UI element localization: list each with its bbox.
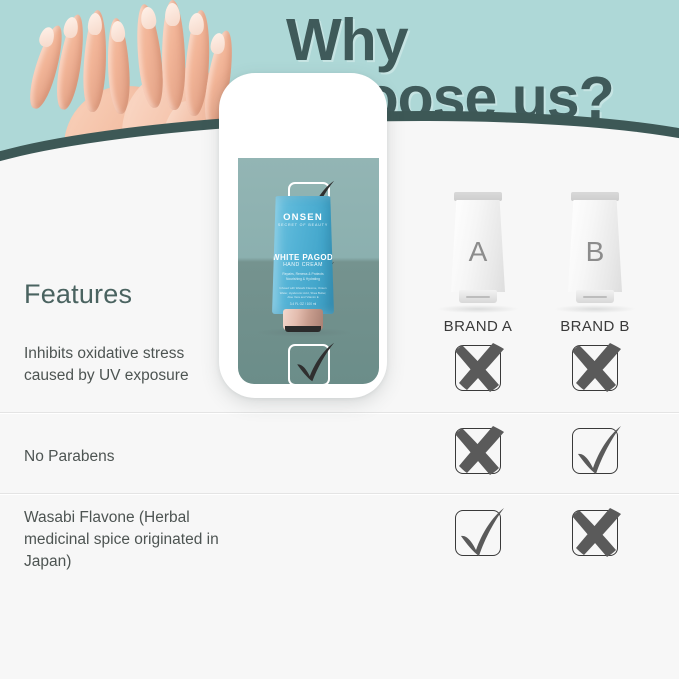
feature-row-label: Inhibits oxidative stress caused by UV e…: [24, 343, 224, 387]
tube-fine-print: Infused with Wasabi Flavone, Onsen Water…: [278, 286, 328, 300]
tube-cap-line: [583, 296, 607, 298]
feature-row-label: Wasabi Flavone (Herbal medicinal spice o…: [24, 507, 224, 573]
tube-product-name: WHITE PAGODA: [272, 253, 334, 262]
check-icon: [449, 500, 509, 562]
matrix-cell-b-3: [572, 510, 618, 556]
x-icon: [566, 500, 626, 562]
brand-a-tube[interactable]: A: [451, 192, 505, 304]
tube-cap-base: [285, 326, 321, 332]
tube-brand-tagline: SECRET OF BEAUTY: [272, 223, 334, 227]
infographic-page: Why Choose us? Features Inhibits oxidati…: [0, 0, 679, 679]
tube-cap-line: [466, 296, 490, 298]
tube-letter: B: [568, 236, 622, 268]
matrix-cell-a-2: [455, 428, 501, 474]
onsen-product-tube[interactable]: ONSEN SECRET OF BEAUTY WHITE PAGODA HAND…: [272, 196, 334, 331]
tube-brand-name: ONSEN: [272, 212, 334, 223]
tube-product-description: Repairs, Renews & Protects Nourishing & …: [278, 272, 328, 282]
matrix-cell-a-3: [455, 510, 501, 556]
matrix-cell-a-1: [455, 345, 501, 391]
x-icon: [566, 335, 626, 397]
brand-b-label: BRAND B: [530, 318, 660, 335]
features-heading: Features: [24, 279, 132, 310]
x-icon: [449, 335, 509, 397]
tube-letter: A: [451, 236, 505, 268]
feature-row-label: No Parabens: [24, 446, 224, 468]
tube-volume: 3.4 FL OZ / 100 ml: [272, 302, 334, 306]
tube-body: ONSEN SECRET OF BEAUTY WHITE PAGODA HAND…: [272, 196, 334, 314]
brand-b-tube[interactable]: B: [568, 192, 622, 304]
tube-shadow: [555, 305, 635, 313]
title-line-1: Why: [286, 12, 666, 70]
our-checkbox: [288, 344, 330, 386]
fingernail: [110, 21, 125, 43]
matrix-cell-b-2: [572, 428, 618, 474]
tube-shadow: [438, 305, 518, 313]
row-divider: [0, 493, 679, 494]
tube-product-subtitle: HAND CREAM: [272, 262, 334, 268]
tube-shoulder: [571, 192, 619, 201]
x-icon: [449, 418, 509, 480]
row-divider: [0, 412, 679, 413]
fingernail: [140, 6, 157, 29]
brand-a-label: BRAND A: [413, 318, 543, 335]
matrix-cell-b-1: [572, 345, 618, 391]
tube-shoulder: [454, 192, 502, 201]
bottom-spacer: [0, 575, 679, 679]
check-icon: [566, 418, 626, 480]
